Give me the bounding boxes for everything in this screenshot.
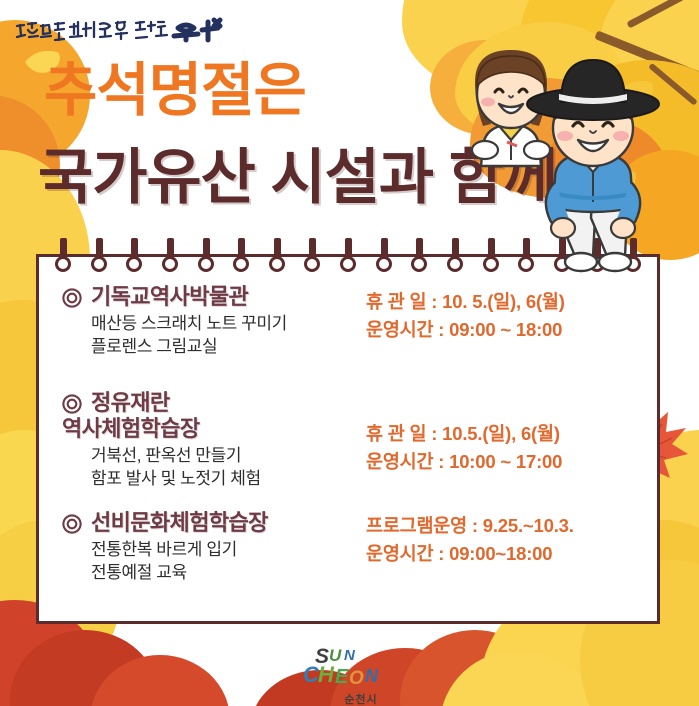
program-item: 기독교역사박물관 매산등 스크래치 노트 꾸미기 플로렌스 그림교실 휴 관 일… <box>36 284 660 359</box>
svg-text:E: E <box>335 666 349 688</box>
venue-title-continued: 역사체험학습장 <box>62 416 199 442</box>
venue-sub-line: 매산등 스크래치 노트 꾸미기 <box>91 313 366 336</box>
spiral-ring-icon <box>197 238 215 278</box>
venue-sub-line: 전통예절 교육 <box>91 562 366 585</box>
venue-sub-line: 거북선, 판옥선 만들기 <box>91 445 366 468</box>
operating-hours-line: 운영시간 : 10:00 ~ 17:00 <box>366 448 660 476</box>
venue-title: 선비문화체험학습장 <box>91 510 268 536</box>
suncheon-bottom-logo: S U N C H E O N 순천시 <box>296 644 426 702</box>
program-item-left: 기독교역사박물관 매산등 스크래치 노트 꾸미기 플로렌스 그림교실 <box>36 284 366 359</box>
svg-text:O: O <box>349 668 364 689</box>
program-item: 정유재란 역사체험학습장 거북선, 판옥선 만들기 함포 발사 및 노젓기 체험… <box>36 390 660 491</box>
spiral-ring-icon <box>232 238 250 278</box>
spiral-ring-icon <box>303 238 321 278</box>
venue-title: 기독교역사박물관 <box>91 284 248 310</box>
program-item-right: 휴 관 일 : 10.5.(일), 6(월) 운영시간 : 10:00 ~ 17… <box>366 390 660 491</box>
operating-hours-line: 운영시간 : 09:00~18:00 <box>366 540 660 568</box>
suncheon-top-logo <box>12 14 242 50</box>
spiral-ring-icon <box>125 238 143 278</box>
spiral-ring-icon <box>90 238 108 278</box>
tree-branch <box>626 0 691 29</box>
red-foliage-blob <box>90 655 230 706</box>
spiral-ring-icon <box>54 238 72 278</box>
orange-foliage-blob <box>530 618 640 706</box>
double-circle-icon <box>62 288 82 308</box>
spiral-ring-icon <box>375 238 393 278</box>
double-circle-icon <box>62 394 82 414</box>
program-item-right: 휴 관 일 : 10. 5.(일), 6(월) 운영시간 : 09:00 ~ 1… <box>366 284 660 359</box>
program-item-right: 프로그램운영 : 9.25.~10.3. 운영시간 : 09:00~18:00 <box>366 510 660 585</box>
closed-days-line: 휴 관 일 : 10. 5.(일), 6(월) <box>366 288 660 316</box>
boy-hanbok-gat-character <box>527 60 659 271</box>
spiral-ring-icon <box>161 238 179 278</box>
svg-text:N: N <box>344 647 356 664</box>
venue-sub-line: 플로렌스 그림교실 <box>91 336 366 359</box>
suncheon-wordmark-artwork: S U N C H E O N <box>299 644 423 690</box>
ginkgo-foliage-blob <box>440 650 600 706</box>
svg-text:N: N <box>365 666 379 686</box>
program-item: 선비문화체험학습장 전통한복 바르게 입기 전통예절 교육 프로그램운영 : 9… <box>36 510 660 585</box>
program-period-line: 프로그램운영 : 9.25.~10.3. <box>366 512 660 540</box>
program-item-left: 선비문화체험학습장 전통한복 바르게 입기 전통예절 교육 <box>36 510 366 585</box>
hanbok-characters-illustration <box>455 42 699 290</box>
program-list: 기독교역사박물관 매산등 스크래치 노트 꾸미기 플로렌스 그림교실 휴 관 일… <box>36 278 660 624</box>
operating-hours-line: 운영시간 : 09:00 ~ 18:00 <box>366 316 660 344</box>
spiral-ring-icon <box>268 238 286 278</box>
red-foliage-blob <box>10 630 160 706</box>
headline-line-1: 추석명절은 <box>44 62 306 120</box>
suncheon-top-logo-artwork <box>12 14 242 50</box>
spiral-ring-icon <box>410 238 428 278</box>
poster-canvas: 추석명절은 국가유산 시설과 함께 <box>0 0 699 706</box>
program-item-left: 정유재란 역사체험학습장 거북선, 판옥선 만들기 함포 발사 및 노젓기 체험 <box>36 390 366 491</box>
spiral-ring-icon <box>339 238 357 278</box>
closed-days-line: 휴 관 일 : 10.5.(일), 6(월) <box>366 420 660 448</box>
venue-sub-line: 전통한복 바르게 입기 <box>91 539 366 562</box>
venue-sub-line: 함포 발사 및 노젓기 체험 <box>91 468 366 491</box>
suncheon-city-label: 순천시 <box>296 691 426 706</box>
svg-text:H: H <box>318 662 335 687</box>
venue-title: 정유재란 <box>91 390 199 416</box>
double-circle-icon <box>62 514 82 534</box>
